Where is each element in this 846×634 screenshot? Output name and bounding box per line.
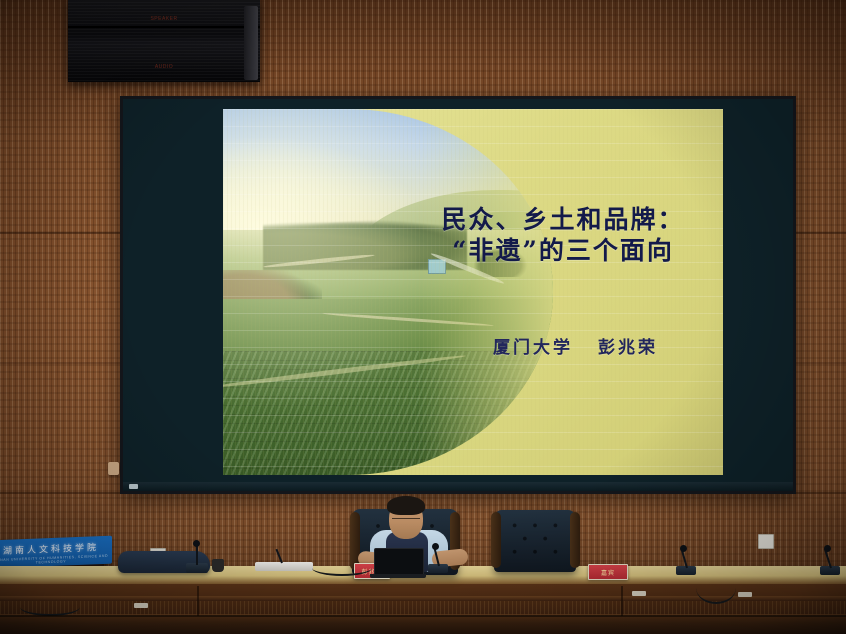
floor-cable xyxy=(20,598,80,616)
speaker-brand-label: SPEAKER xyxy=(68,16,260,22)
power-strip[interactable] xyxy=(255,562,313,571)
mic-head-speaker xyxy=(432,543,439,550)
speaker-mount-bracket xyxy=(244,6,258,80)
desk-cable-1 xyxy=(312,560,372,576)
desk-cable-2 xyxy=(696,572,736,604)
laptop-base xyxy=(370,574,426,578)
slide-author-name: 彭兆荣 xyxy=(598,333,658,358)
speaker-hair xyxy=(387,496,425,515)
screen-bottom-bar xyxy=(123,482,793,491)
slide-title: 民众、乡土和品牌： “非遗”的三个面向 xyxy=(413,205,713,266)
speaker-panel-split xyxy=(68,26,260,28)
presentation-slide: 民众、乡土和品牌： “非遗”的三个面向 厦门大学 彭兆荣 xyxy=(223,109,723,475)
speaker-glasses-icon xyxy=(392,518,420,523)
speaker-model-label: AUDIO xyxy=(68,64,260,70)
ceiling-speaker: SPEAKER AUDIO xyxy=(68,0,260,82)
mic-head-3 xyxy=(824,545,831,552)
chair-empty-right-tufting xyxy=(501,516,570,563)
mic-head-1 xyxy=(193,540,200,547)
screen-wall-hook xyxy=(108,462,119,475)
nameplate-guest: 嘉宾 xyxy=(588,564,628,580)
wall-outlet-right[interactable] xyxy=(758,534,774,549)
venue-name-sign: 湖南人文科技学院 HUNAN UNIVERSITY OF HUMANITIES,… xyxy=(0,536,112,569)
chair-empty-right-wood-right xyxy=(570,512,580,568)
slide-paper-grain xyxy=(223,109,723,475)
mic-head-2 xyxy=(680,545,687,552)
desk-cup-1 xyxy=(212,559,224,572)
slide-title-line2: “非遗”的三个面向 xyxy=(413,236,713,267)
head-table-tag-3 xyxy=(738,592,752,597)
lecture-hall-photo: SPEAKER AUDIO xyxy=(0,0,846,634)
front-bench-edge xyxy=(0,615,846,617)
front-bench-row xyxy=(0,616,846,634)
slide-title-line1: 民众、乡土和品牌： xyxy=(413,205,713,236)
chair-empty-right[interactable] xyxy=(494,510,576,572)
head-table-tag-1 xyxy=(134,603,148,608)
head-table-tag-2 xyxy=(632,591,646,596)
projection-screen: 民众、乡土和品牌： “非遗”的三个面向 厦门大学 彭兆荣 xyxy=(120,96,796,494)
chair-empty-right-wood-left xyxy=(491,512,501,568)
screen-bottom-tab xyxy=(129,484,138,489)
slide-author-affiliation: 厦门大学 xyxy=(493,333,573,358)
